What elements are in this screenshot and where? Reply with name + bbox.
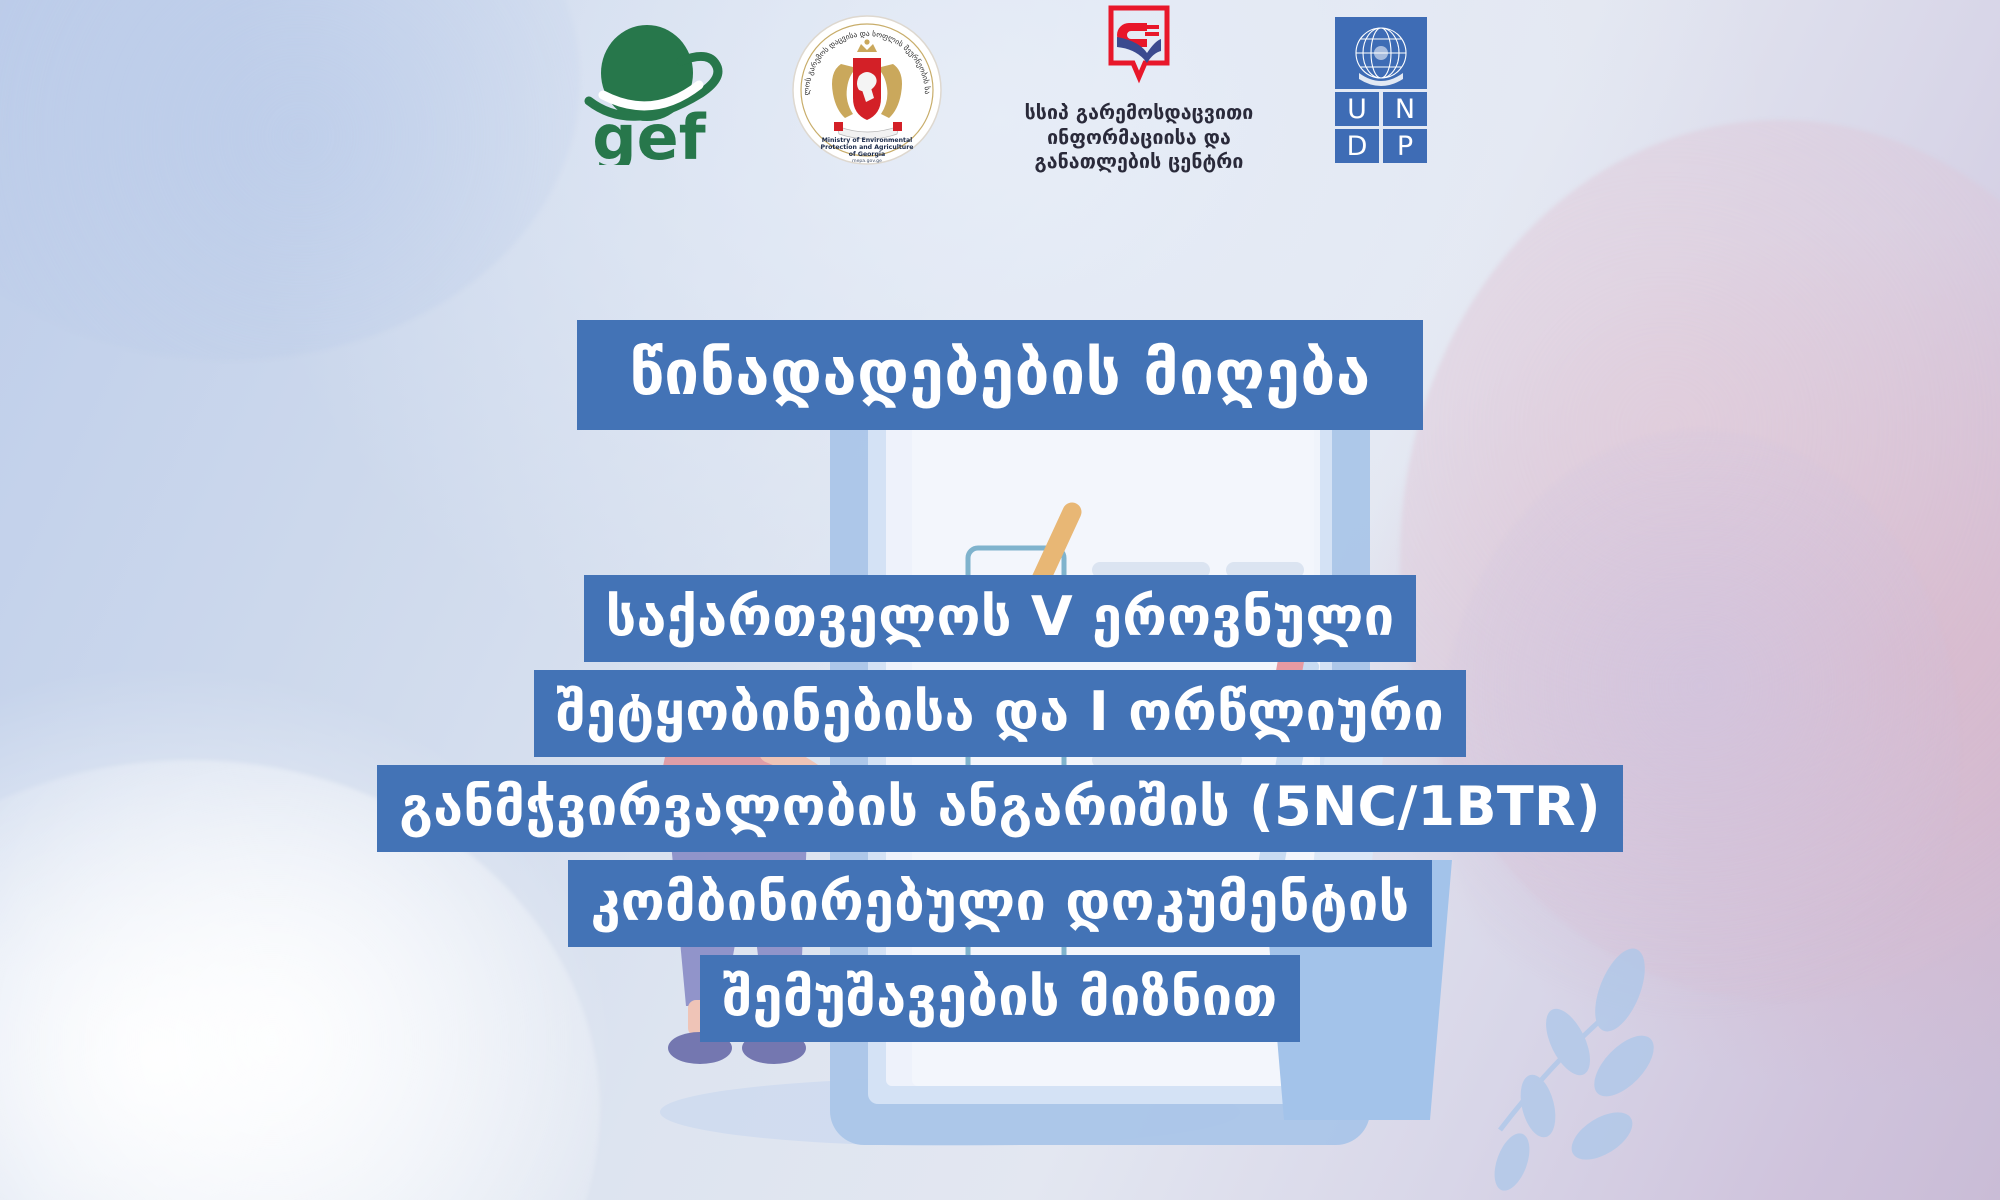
undp-letter-d: D (1347, 131, 1368, 162)
gef-logo-mark: gef (573, 15, 725, 165)
undp-logo: U N D P (1335, 17, 1427, 163)
cenn-logo-mark (1105, 5, 1173, 95)
cenn-logo: სსიპ გარემოსდაცვითი ინფორმაციისა და განა… (1009, 5, 1269, 176)
ministry-website: mepa.gov.ge (852, 159, 882, 164)
cenn-logo-text: სსიპ გარემოსდაცვითი ინფორმაციისა და განა… (1025, 101, 1254, 176)
gef-wordmark: gef (592, 101, 706, 165)
page-title: წინადადებების მიღება (577, 320, 1422, 430)
cenn-text-line-1: სსიპ გარემოსდაცვითი (1025, 101, 1254, 126)
poster-canvas: gef საქართველოს გარემოს დაცვისა და სოფლი… (0, 0, 2000, 1200)
title-block: წინადადებების მიღება (0, 320, 2000, 430)
cenn-text-line-2: ინფორმაციისა და (1025, 126, 1254, 151)
subtitle-block: საქართველოს V ეროვნული შეტყობინებისა და … (0, 575, 2000, 1050)
subtitle-line-3: განმჭვირვალობის ანგარიშის (5NC/1BTR) (377, 765, 1623, 852)
logo-bar: gef საქართველოს გარემოს დაცვისა და სოფლი… (0, 0, 2000, 180)
undp-logo-mark: U N D P (1335, 17, 1427, 163)
ministry-logo: საქართველოს გარემოს დაცვისა და სოფლის მე… (791, 14, 943, 166)
subtitle-line-5: შემუშავების მიზნით (700, 955, 1299, 1042)
subtitle-line-1: საქართველოს V ეროვნული (584, 575, 1417, 662)
undp-letter-u: U (1347, 94, 1367, 125)
ministry-line3: of Georgia (849, 151, 885, 158)
ministry-line1: Ministry of Environmental (822, 137, 913, 144)
subtitle-line-1-wrap: საქართველოს V ეროვნული (0, 575, 2000, 670)
subtitle-line-3-wrap: განმჭვირვალობის ანგარიშის (5NC/1BTR) (0, 765, 2000, 860)
subtitle-line-4: კომბინირებული დოკუმენტის (568, 860, 1431, 947)
gef-logo: gef (573, 15, 725, 165)
undp-letter-n: N (1395, 94, 1415, 125)
undp-letter-p: P (1397, 131, 1413, 162)
subtitle-line-2-wrap: შეტყობინებისა და I ორწლიური (0, 670, 2000, 765)
ministry-seal: საქართველოს გარემოს დაცვისა და სოფლის მე… (791, 14, 943, 166)
cenn-text-line-3: განათლების ცენტრი (1025, 150, 1254, 175)
ministry-line2: Protection and Agriculture (821, 144, 914, 151)
subtitle-line-5-wrap: შემუშავების მიზნით (0, 955, 2000, 1050)
subtitle-line-2: შეტყობინებისა და I ორწლიური (534, 670, 1466, 757)
subtitle-line-4-wrap: კომბინირებული დოკუმენტის (0, 860, 2000, 955)
